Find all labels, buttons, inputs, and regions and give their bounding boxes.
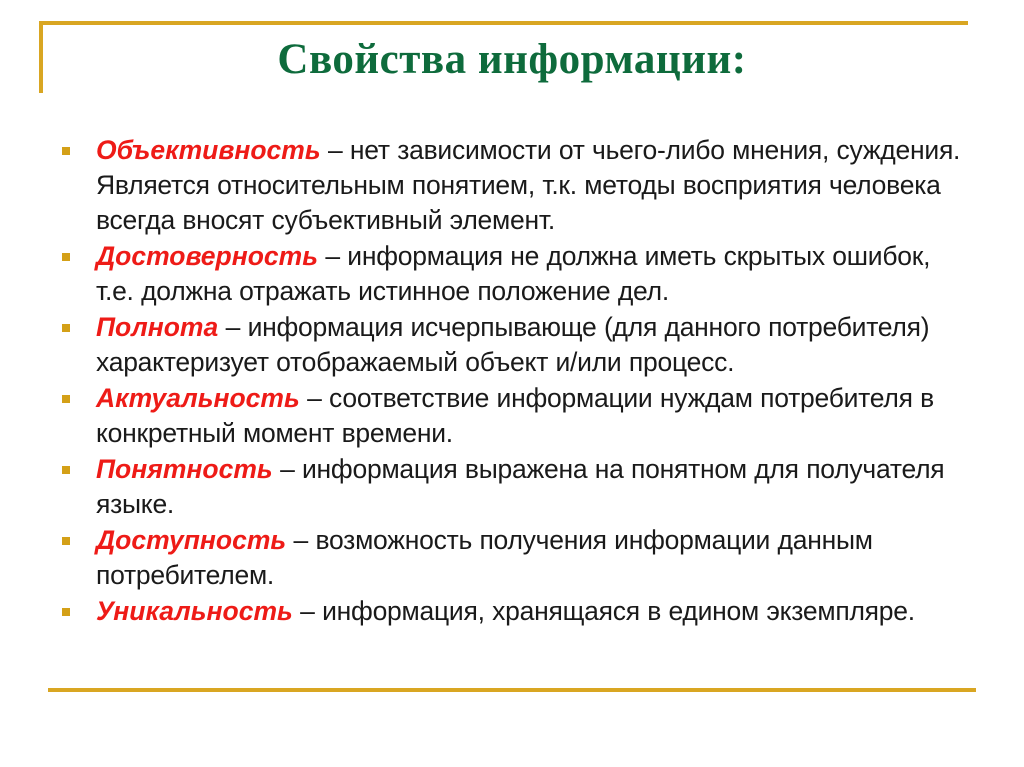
property-term: Объективность [96,135,321,165]
property-dash: – [318,241,347,271]
list-item: Объективность – нет зависимости от чьего… [56,133,961,238]
bullet-square-icon [62,466,70,474]
content-area: Объективность – нет зависимости от чьего… [56,133,961,630]
left-border-rule [39,21,43,93]
bullet-square-icon [62,395,70,403]
page-title: Свойства информации: [277,34,746,86]
property-term: Достоверность [96,241,318,271]
list-item: Уникальность – информация, хранящаяся в … [56,594,961,629]
bullet-square-icon [62,253,70,261]
property-dash: – [286,525,315,555]
bullet-square-icon [62,608,70,616]
properties-list: Объективность – нет зависимости от чьего… [56,133,961,629]
property-term: Полнота [96,312,218,342]
property-term: Понятность [96,454,273,484]
list-item: Актуальность – соответствие информации н… [56,381,961,451]
list-item: Достоверность – информация не должна име… [56,239,961,309]
title-area: Свойства информации: [48,34,976,86]
bottom-border-rule [48,688,976,692]
property-term: Актуальность [96,383,300,413]
property-dash: – [273,454,302,484]
top-border-rule [39,21,968,25]
property-dash: – [293,596,322,626]
bullet-square-icon [62,537,70,545]
property-dash: – [321,135,350,165]
property-term: Уникальность [96,596,293,626]
list-item: Понятность – информация выражена на поня… [56,452,961,522]
bullet-square-icon [62,324,70,332]
property-description: информация, хранящаяся в едином экземпля… [322,596,915,626]
bullet-square-icon [62,147,70,155]
list-item: Доступность – возможность получения инфо… [56,523,961,593]
property-dash: – [218,312,247,342]
property-term: Доступность [96,525,286,555]
property-dash: – [300,383,329,413]
presentation-slide: Свойства информации: Объективность – нет… [0,0,1024,767]
list-item: Полнота – информация исчерпывающе (для д… [56,310,961,380]
